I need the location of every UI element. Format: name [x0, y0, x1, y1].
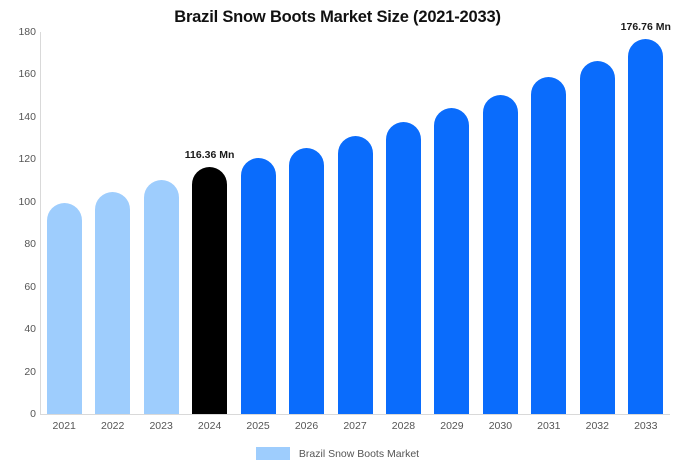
- bar-group[interactable]: [531, 32, 566, 414]
- bar-group[interactable]: [386, 32, 421, 414]
- y-axis-tick-label: 120: [4, 153, 36, 165]
- bar-group[interactable]: [241, 32, 276, 414]
- y-axis-tick-label: 80: [4, 238, 36, 250]
- bar-2033[interactable]: [628, 39, 663, 414]
- x-axis-tick-label-2033: 2033: [616, 420, 675, 432]
- y-axis-tick-label: 20: [4, 366, 36, 378]
- bar-group[interactable]: [47, 32, 82, 414]
- bar-group[interactable]: 116.36 Mn: [192, 32, 227, 414]
- bar-value-label-2024: 116.36 Mn: [185, 149, 235, 161]
- bar-2022[interactable]: [95, 192, 130, 414]
- legend-label-brazil-snow-boots-market: Brazil Snow Boots Market: [299, 448, 419, 460]
- bar-group[interactable]: [95, 32, 130, 414]
- legend-swatch-brazil-snow-boots-market: [256, 447, 290, 460]
- y-axis-tick-label: 60: [4, 281, 36, 293]
- chart-title: Brazil Snow Boots Market Size (2021-2033…: [0, 8, 675, 27]
- x-axis-line: [40, 414, 670, 415]
- y-axis-tick-label: 160: [4, 68, 36, 80]
- y-axis-tick-label: 180: [4, 26, 36, 38]
- bar-group[interactable]: [580, 32, 615, 414]
- y-axis-tick-label: 0: [4, 408, 36, 420]
- bar-chart: Brazil Snow Boots Market Size (2021-2033…: [0, 0, 675, 469]
- bar-2029[interactable]: [434, 108, 469, 414]
- bar-group[interactable]: [483, 32, 518, 414]
- bar-2025[interactable]: [241, 158, 276, 414]
- chart-legend: Brazil Snow Boots Market: [0, 447, 675, 460]
- plot-area: 116.36 Mn176.76 Mn: [40, 32, 670, 414]
- y-axis-tick-label: 40: [4, 323, 36, 335]
- y-axis-tick-label: 140: [4, 111, 36, 123]
- bar-group[interactable]: [289, 32, 324, 414]
- bar-2032[interactable]: [580, 61, 615, 414]
- bar-2031[interactable]: [531, 77, 566, 414]
- bar-2024[interactable]: [192, 167, 227, 414]
- y-axis-tick-label: 100: [4, 196, 36, 208]
- bar-value-label-2033: 176.76 Mn: [621, 21, 671, 33]
- bar-group[interactable]: [434, 32, 469, 414]
- bar-2028[interactable]: [386, 122, 421, 414]
- bar-2027[interactable]: [338, 136, 373, 414]
- bar-2021[interactable]: [47, 203, 82, 414]
- y-axis-ticks: 020406080100120140160180: [0, 0, 36, 469]
- bar-group[interactable]: 176.76 Mn: [628, 32, 663, 414]
- bar-group[interactable]: [144, 32, 179, 414]
- bar-2030[interactable]: [483, 95, 518, 414]
- bar-2023[interactable]: [144, 180, 179, 414]
- bar-group[interactable]: [338, 32, 373, 414]
- bar-2026[interactable]: [289, 148, 324, 414]
